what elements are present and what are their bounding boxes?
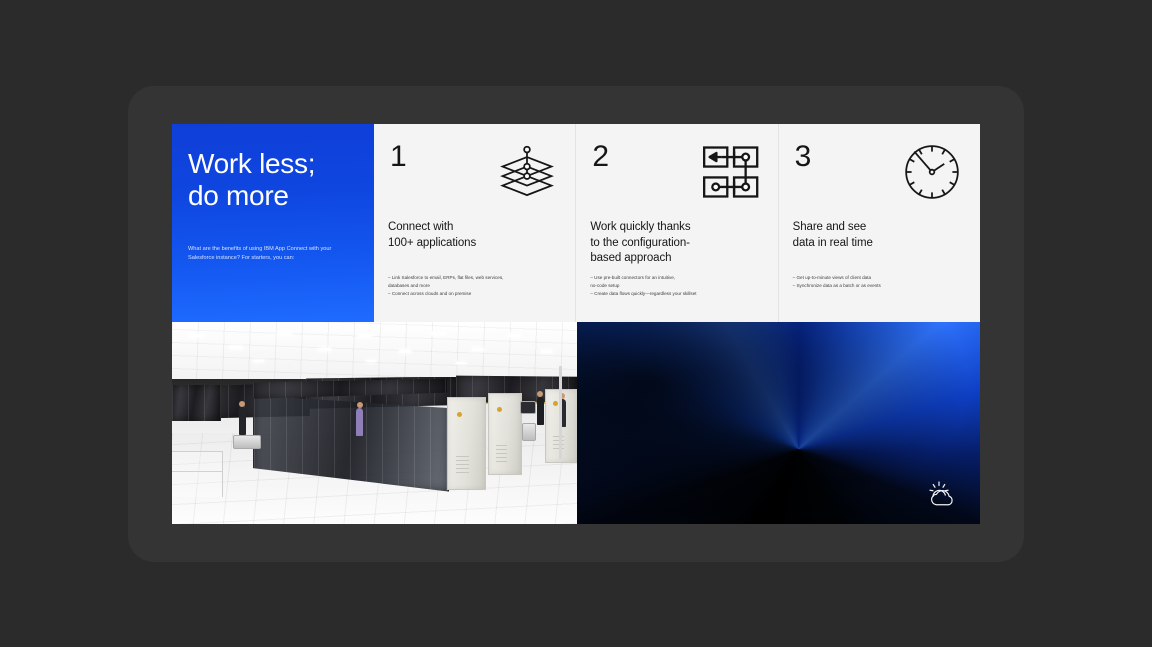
monitor-cart-stand xyxy=(522,423,536,441)
data-center-scene xyxy=(172,322,577,524)
safety-railing xyxy=(172,451,223,496)
clock-icon xyxy=(898,138,966,206)
hero-subtitle: What are the benefits of using IBM App C… xyxy=(188,245,338,263)
blue-conic-gradient-graphic xyxy=(577,322,980,524)
gradient-vignette xyxy=(577,322,980,524)
monitor-cart xyxy=(520,401,536,414)
server-rack-left xyxy=(172,385,221,421)
flow-diagram-icon xyxy=(696,138,764,206)
power-cabinet xyxy=(488,393,522,476)
support-pole xyxy=(559,366,562,459)
panel-row: Work less; do more What are the benefits… xyxy=(172,124,980,322)
step-heading-1: Connect with 100+ applications xyxy=(388,220,561,251)
step-bullet: – Synchronize data as a batch or as even… xyxy=(793,282,970,290)
ibm-weather-cloud-sun-icon xyxy=(926,480,958,510)
power-cabinet xyxy=(447,397,485,490)
technician xyxy=(239,407,246,435)
step-bullet: – Connect across clouds and on premise xyxy=(388,290,565,298)
equipment-cart xyxy=(233,435,261,449)
step-bullet: – Use pre-built connectors for an intuit… xyxy=(590,274,767,290)
step-bullets-3: – Get up-to-minute views of client data … xyxy=(793,274,970,290)
hero-panel: Work less; do more What are the benefits… xyxy=(172,124,374,322)
stacked-layers-icon xyxy=(493,138,561,206)
technician xyxy=(356,408,363,436)
screenshot-stage: Work less; do more What are the benefits… xyxy=(0,0,1152,647)
hero-title: Work less; do more xyxy=(188,148,358,213)
step-panel-2: 2 xyxy=(576,124,778,322)
media-row xyxy=(172,322,980,524)
step-heading-2: Work quickly thanks to the configuration… xyxy=(590,220,763,267)
data-center-photo xyxy=(172,322,577,524)
slide-screen: Work less; do more What are the benefits… xyxy=(172,124,980,524)
step-bullets-2: – Use pre-built connectors for an intuit… xyxy=(590,274,767,298)
step-bullet: – Get up-to-minute views of client data xyxy=(793,274,970,282)
step-bullet: – Create data flows quickly—regardless y… xyxy=(590,290,767,298)
step-panel-3: 3 xyxy=(779,124,980,322)
technician xyxy=(537,397,544,425)
step-bullets-1: – Link Salesforce to email, ERPs, flat f… xyxy=(388,274,565,298)
step-bullet: – Link Salesforce to email, ERPs, flat f… xyxy=(388,274,565,290)
step-panel-1: 1 Connect with 100+ applications – Link xyxy=(374,124,576,322)
step-heading-3: Share and see data in real time xyxy=(793,220,966,251)
